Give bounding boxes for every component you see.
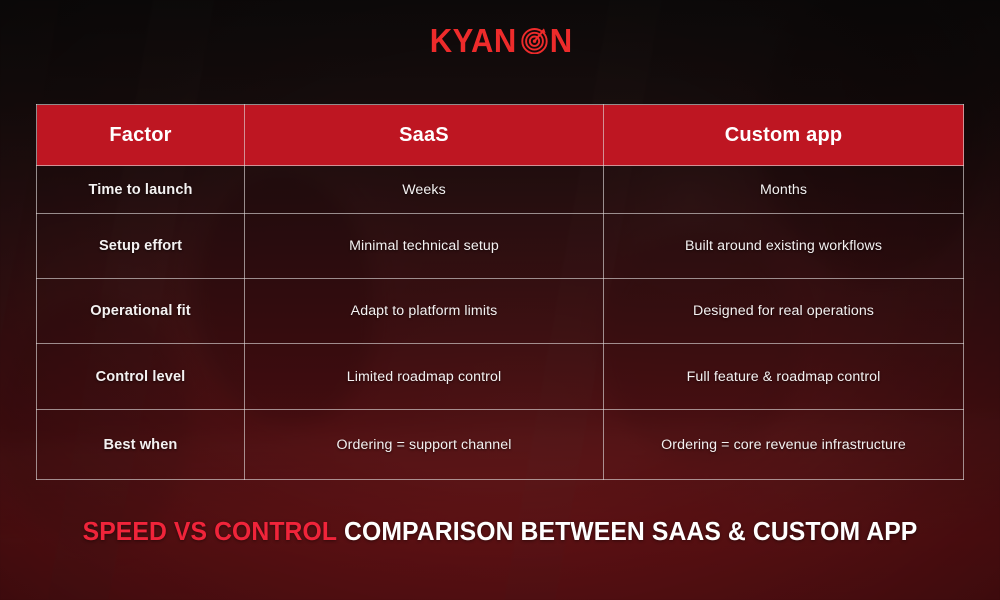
table-body: Time to launch Weeks Months Setup effort…	[37, 166, 964, 480]
cell-factor: Setup effort	[37, 214, 245, 279]
cell-custom: Full feature & roadmap control	[604, 344, 964, 410]
logo-text-left: KYAN	[430, 24, 517, 57]
column-header-saas: SaaS	[245, 105, 604, 166]
cell-custom: Months	[604, 166, 964, 214]
cell-custom: Designed for real operations	[604, 279, 964, 344]
cell-custom: Ordering = core revenue infrastructure	[604, 410, 964, 480]
cell-custom: Built around existing workflows	[604, 214, 964, 279]
table-row: Setup effort Minimal technical setup Bui…	[37, 214, 964, 279]
cell-saas: Limited roadmap control	[245, 344, 604, 410]
logo-lockup: KYAN N	[427, 24, 573, 57]
cell-factor: Operational fit	[37, 279, 245, 344]
cell-factor: Control level	[37, 344, 245, 410]
column-header-factor: Factor	[37, 105, 245, 166]
cell-saas: Weeks	[245, 166, 604, 214]
cell-factor: Best when	[37, 410, 245, 480]
cell-saas: Adapt to platform limits	[245, 279, 604, 344]
slide-canvas: KYAN N Factor SaaS	[0, 0, 1000, 600]
table-row: Operational fit Adapt to platform limits…	[37, 279, 964, 344]
caption-rest: COMPARISON BETWEEN SAAS & CUSTOM APP	[344, 518, 917, 546]
table-row: Control level Limited roadmap control Fu…	[37, 344, 964, 410]
target-bullseye-icon	[521, 27, 548, 54]
cell-saas: Ordering = support channel	[245, 410, 604, 480]
table-row: Best when Ordering = support channel Ord…	[37, 410, 964, 480]
logo-text-right: N	[549, 24, 572, 57]
slide-caption: SPEED VS CONTROL COMPARISON BETWEEN SAAS…	[15, 518, 985, 546]
table-header: Factor SaaS Custom app	[37, 105, 964, 166]
cell-factor: Time to launch	[37, 166, 245, 214]
column-header-custom: Custom app	[604, 105, 964, 166]
comparison-table: Factor SaaS Custom app Time to launch We…	[36, 104, 964, 480]
brand-logo: KYAN N	[0, 24, 1000, 57]
caption-accent: SPEED VS CONTROL	[83, 518, 337, 546]
table-row: Time to launch Weeks Months	[37, 166, 964, 214]
cell-saas: Minimal technical setup	[245, 214, 604, 279]
table-header-row: Factor SaaS Custom app	[37, 105, 964, 166]
